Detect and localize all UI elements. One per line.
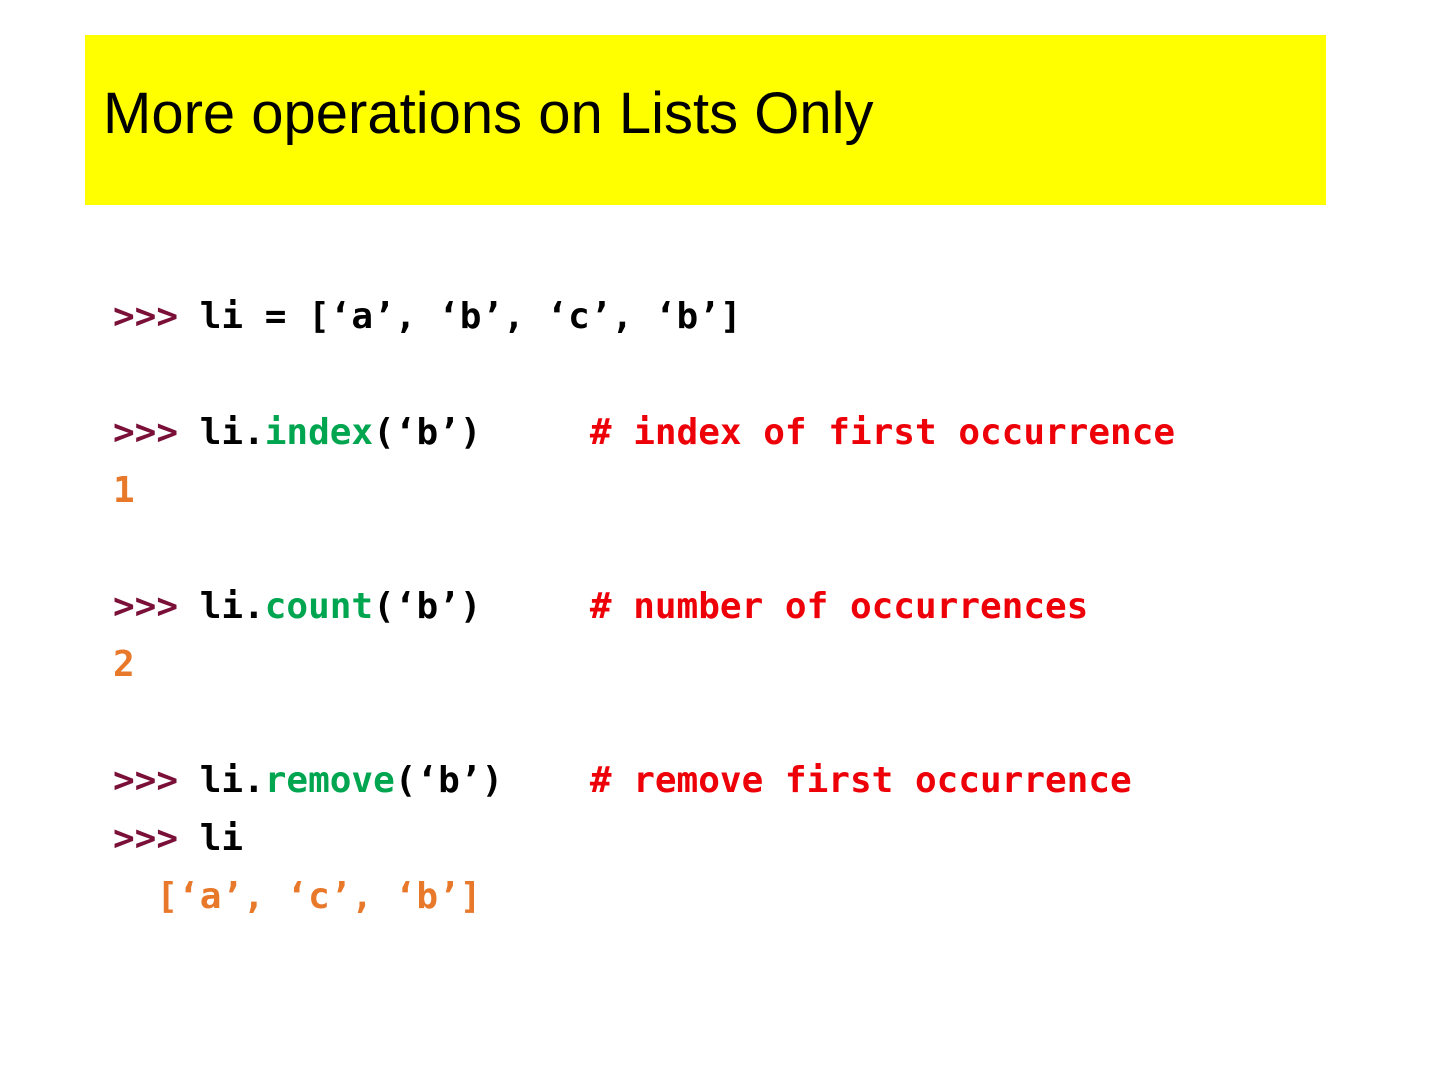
code-token-plain: li [200, 818, 243, 859]
code-blank-line [113, 694, 1363, 752]
code-token-comment: # number of occurrences [590, 586, 1089, 627]
code-token-comment: # remove first occurrence [590, 760, 1132, 801]
code-line-output: 1 [113, 462, 1363, 520]
code-token-method: remove [265, 760, 395, 801]
code-token-plain: li. [200, 760, 265, 801]
code-token-plain: (‘b’) [373, 412, 590, 453]
code-token-plain: (‘b’) [395, 760, 590, 801]
code-listing: >>> li = [‘a’, ‘b’, ‘c’, ‘b’] >>> li.ind… [113, 288, 1363, 926]
code-token-method: index [265, 412, 373, 453]
code-token-output: [‘a’, ‘c’, ‘b’] [113, 876, 481, 917]
code-token-output: 1 [113, 470, 135, 511]
code-token-plain: li. [200, 586, 265, 627]
code-token-plain: li. [200, 412, 265, 453]
code-line-output: [‘a’, ‘c’, ‘b’] [113, 868, 1363, 926]
code-token-prompt: >>> [113, 586, 200, 627]
page-title: More operations on Lists Only [103, 85, 873, 143]
code-line-output: 2 [113, 636, 1363, 694]
code-line-input: >>> li.count(‘b’) # number of occurrence… [113, 578, 1363, 636]
code-line-input: >>> li = [‘a’, ‘b’, ‘c’, ‘b’] [113, 288, 1363, 346]
code-token-comment: # index of first occurrence [590, 412, 1175, 453]
code-token-prompt: >>> [113, 412, 200, 453]
code-token-output: 2 [113, 644, 135, 685]
code-blank-line [113, 346, 1363, 404]
code-token-prompt: >>> [113, 760, 200, 801]
code-token-prompt: >>> [113, 296, 200, 337]
code-line-input: >>> li.index(‘b’) # index of first occur… [113, 404, 1363, 462]
code-blank-line [113, 520, 1363, 578]
code-line-input: >>> li [113, 810, 1363, 868]
code-token-prompt: >>> [113, 818, 200, 859]
code-token-plain: li = [‘a’, ‘b’, ‘c’, ‘b’] [200, 296, 742, 337]
code-token-method: count [265, 586, 373, 627]
title-banner: More operations on Lists Only [85, 35, 1326, 205]
code-token-plain: (‘b’) [373, 586, 590, 627]
code-line-input: >>> li.remove(‘b’) # remove first occurr… [113, 752, 1363, 810]
